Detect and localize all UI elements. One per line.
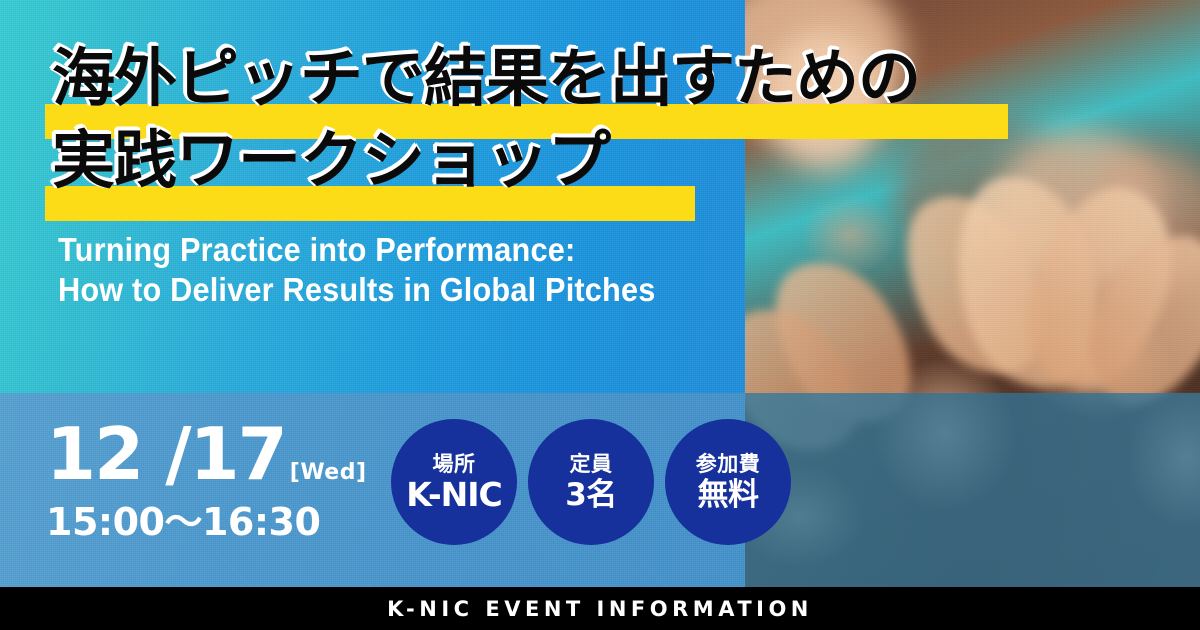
title-line-1: 海外ピッチで結果を出すための	[52, 38, 1052, 120]
title-line-2: 実践ワークショップ	[52, 120, 1052, 202]
badge-fee-label: 参加費	[696, 452, 761, 476]
badge-venue-label: 場所	[433, 452, 476, 476]
badge-venue-value: K-NIC	[406, 477, 502, 513]
event-day-of-week: [Wed]	[290, 462, 367, 484]
event-date-number: 12 /17	[46, 418, 286, 490]
subtitle-line-1: Turning Practice into Performance:	[58, 230, 988, 270]
badge-fee-value: 無料	[698, 477, 759, 513]
info-badges: 場所 K-NIC 定員 3名 参加費 無料	[391, 419, 791, 545]
event-date: 12 /17 [Wed]	[46, 418, 367, 490]
footer-bar: K-NIC EVENT INFORMATION	[0, 587, 1200, 630]
badge-capacity-value: 3名	[565, 477, 617, 513]
page-title: 海外ピッチで結果を出すための 実践ワークショップ	[52, 38, 1052, 202]
badge-venue: 場所 K-NIC	[391, 419, 517, 545]
event-banner: 海外ピッチで結果を出すための 実践ワークショップ Turning Practic…	[0, 0, 1200, 630]
event-time: 15:00〜16:30	[46, 502, 320, 542]
footer-text: K-NIC EVENT INFORMATION	[387, 597, 813, 621]
badge-fee: 参加費 無料	[665, 419, 791, 545]
subtitle-line-2: How to Deliver Results in Global Pitches	[58, 270, 988, 310]
subtitle: Turning Practice into Performance: How t…	[58, 230, 988, 310]
badge-capacity: 定員 3名	[528, 419, 654, 545]
badge-capacity-label: 定員	[570, 452, 613, 476]
lower-band-photo-overlay	[745, 393, 1200, 587]
